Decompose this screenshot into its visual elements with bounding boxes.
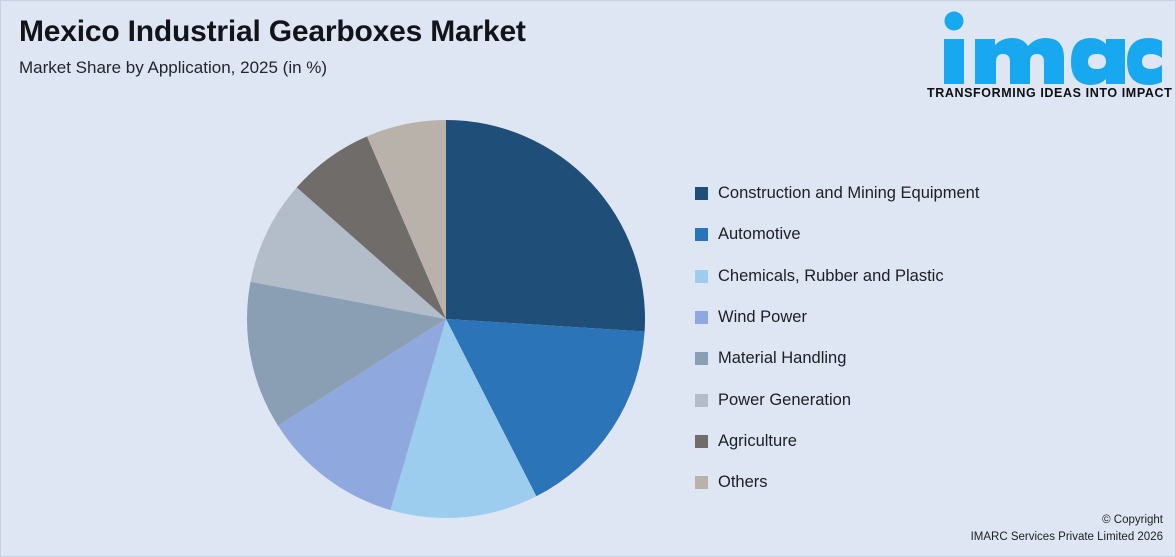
legend-item[interactable]: Others: [695, 462, 1115, 503]
logo-tagline: TRANSFORMING IDEAS INTO IMPACT: [927, 86, 1167, 100]
pie-slice[interactable]: [446, 120, 645, 332]
legend-swatch-icon: [695, 476, 708, 489]
legend-swatch-icon: [695, 435, 708, 448]
copyright-notice: © Copyright IMARC Services Private Limit…: [971, 512, 1163, 547]
legend-label: Others: [718, 473, 768, 492]
chart-header: Mexico Industrial Gearboxes Market Marke…: [19, 15, 719, 78]
legend-item[interactable]: Construction and Mining Equipment: [695, 173, 1115, 214]
legend-swatch-icon: [695, 352, 708, 365]
legend-item[interactable]: Agriculture: [695, 421, 1115, 462]
imarc-logo: TRANSFORMING IDEAS INTO IMPACT: [927, 11, 1167, 100]
legend-swatch-icon: [695, 270, 708, 283]
legend-item[interactable]: Wind Power: [695, 297, 1115, 338]
imarc-wordmark-icon: [931, 11, 1163, 85]
legend-item[interactable]: Automotive: [695, 214, 1115, 255]
chart-canvas: Mexico Industrial Gearboxes Market Marke…: [0, 0, 1176, 557]
pie-slice-group: [247, 120, 645, 518]
legend-label: Construction and Mining Equipment: [718, 184, 979, 203]
chart-legend: Construction and Mining EquipmentAutomot…: [695, 173, 1115, 503]
legend-item[interactable]: Material Handling: [695, 338, 1115, 379]
legend-label: Automotive: [718, 225, 801, 244]
pie-chart-svg: [246, 119, 646, 519]
legend-label: Chemicals, Rubber and Plastic: [718, 267, 944, 286]
page-title: Mexico Industrial Gearboxes Market: [19, 15, 719, 50]
legend-label: Agriculture: [718, 432, 797, 451]
copyright-line-2: IMARC Services Private Limited 2026: [971, 529, 1163, 546]
legend-swatch-icon: [695, 394, 708, 407]
legend-label: Material Handling: [718, 349, 846, 368]
legend-item[interactable]: Power Generation: [695, 379, 1115, 420]
legend-label: Power Generation: [718, 391, 851, 410]
chart-subtitle: Market Share by Application, 2025 (in %): [19, 58, 719, 78]
pie-chart: [246, 119, 646, 519]
legend-swatch-icon: [695, 187, 708, 200]
legend-label: Wind Power: [718, 308, 807, 327]
legend-item[interactable]: Chemicals, Rubber and Plastic: [695, 256, 1115, 297]
legend-swatch-icon: [695, 311, 708, 324]
copyright-line-1: © Copyright: [971, 512, 1163, 529]
legend-swatch-icon: [695, 228, 708, 241]
